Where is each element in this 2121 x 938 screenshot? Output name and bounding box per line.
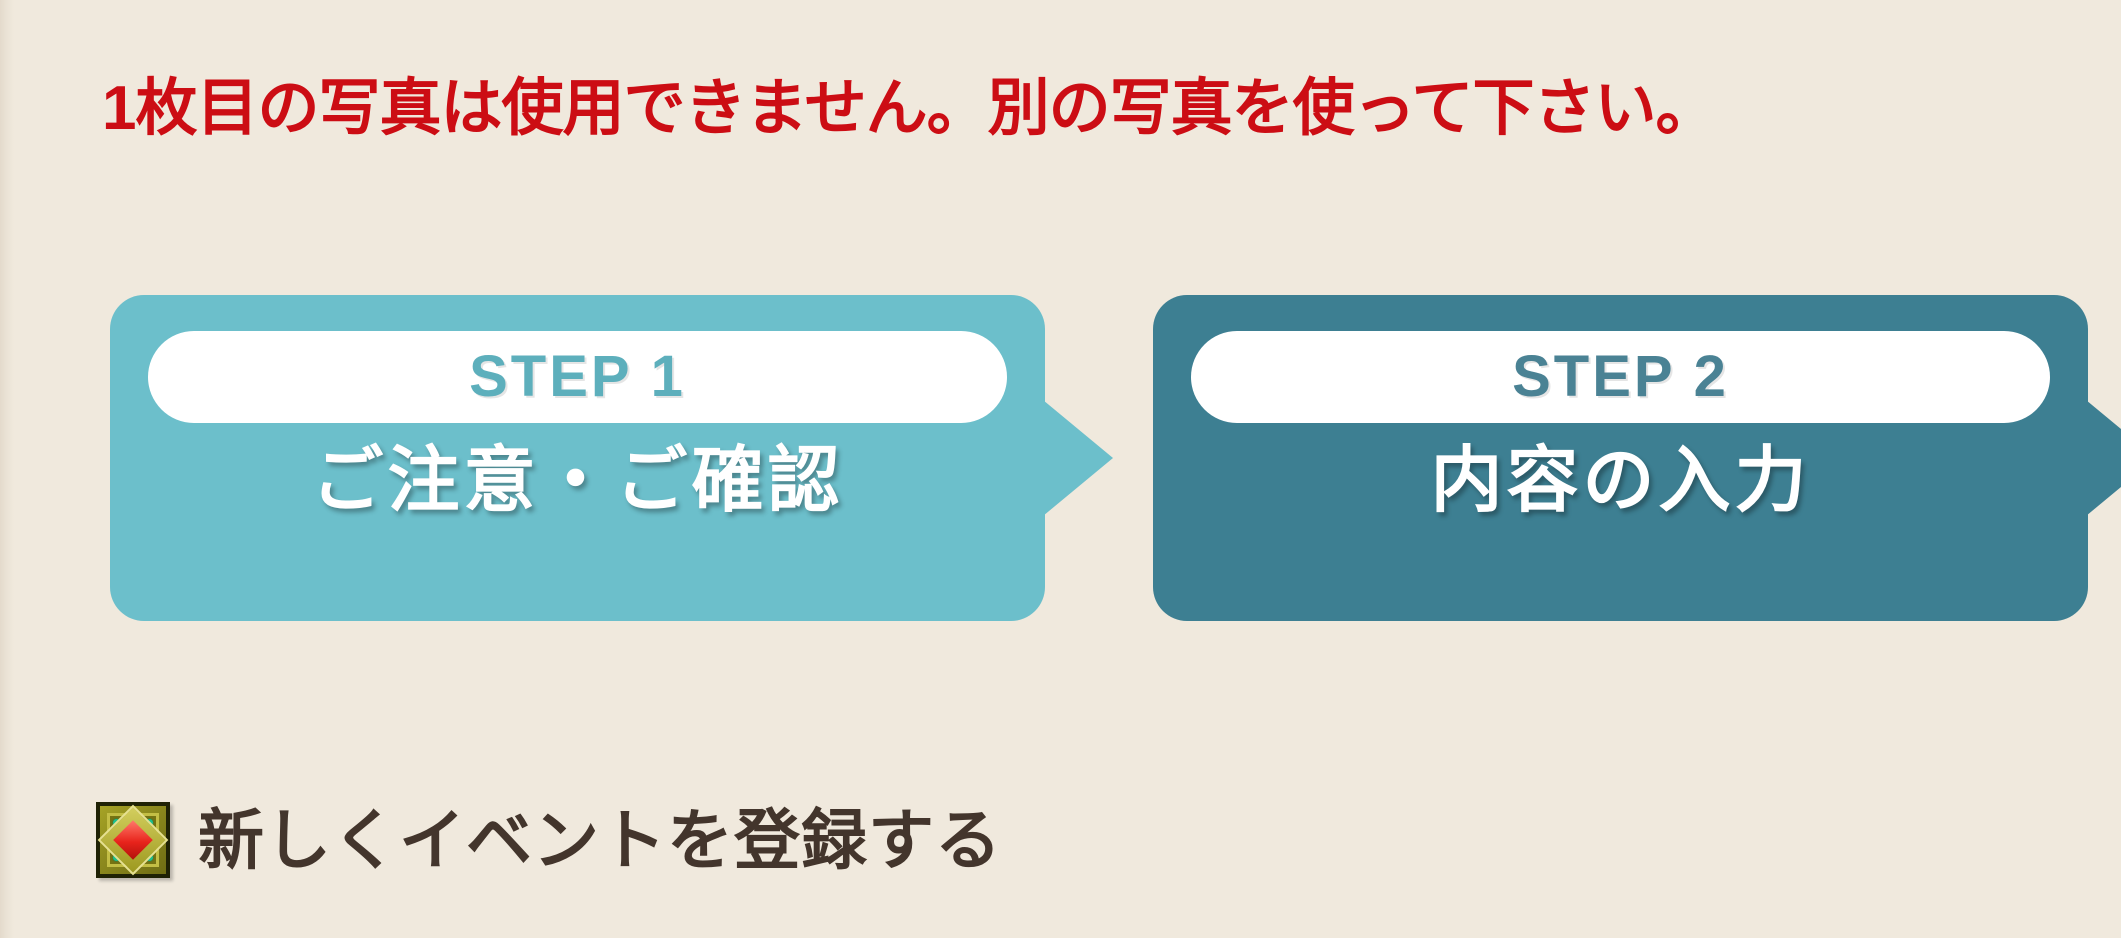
register-event-row[interactable]: 新しくイベントを登録する: [96, 802, 1002, 878]
step-progress-flow: STEP 1 ご注意・ご確認 STEP 2 内容の入力: [0, 295, 2121, 621]
step-1-pill: STEP 1: [148, 331, 1007, 423]
gem-diamond-icon: [96, 802, 170, 878]
step-2-arrow-right-icon: [2086, 400, 2121, 516]
register-new-event-link[interactable]: 新しくイベントを登録する: [198, 807, 1002, 873]
step-2-caption: 内容の入力: [1153, 445, 2088, 517]
step-2-pill: STEP 2: [1191, 331, 2050, 423]
step-2-pill-label: STEP 2: [1512, 348, 1729, 406]
step-item-2[interactable]: STEP 2 内容の入力: [1153, 295, 2088, 621]
step-1-arrow-right-icon: [1043, 400, 1113, 516]
photo-validation-error-message: 1枚目の写真は使用できません。別の写真を使って下さい。: [102, 78, 1717, 140]
step-1-pill-label: STEP 1: [469, 348, 686, 406]
step-item-1[interactable]: STEP 1 ご注意・ご確認: [110, 295, 1045, 621]
page-root: 1枚目の写真は使用できません。別の写真を使って下さい。 STEP 1 ご注意・ご…: [0, 0, 2121, 938]
step-1-caption: ご注意・ご確認: [110, 445, 1045, 517]
